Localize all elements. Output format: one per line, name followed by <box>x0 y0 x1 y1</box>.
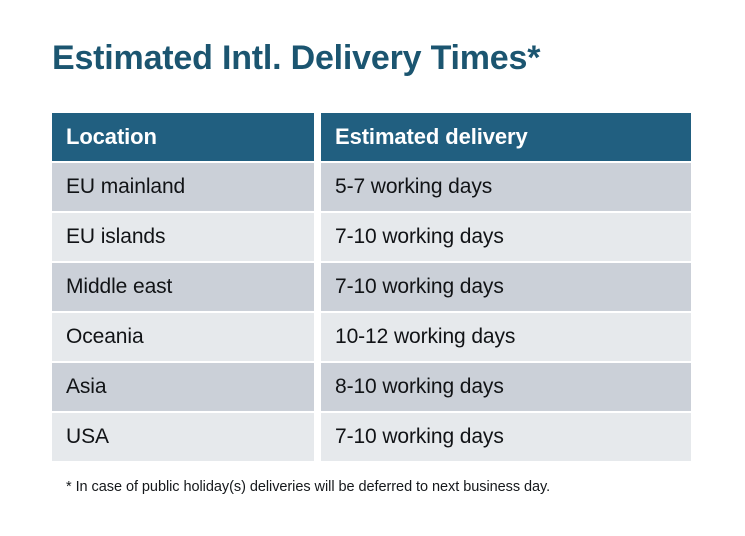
column-divider <box>314 163 321 211</box>
cell-estimated-delivery: 5-7 working days <box>321 163 691 211</box>
cell-location: Middle east <box>52 263 314 311</box>
cell-estimated-delivery: 7-10 working days <box>321 213 691 261</box>
table-row: EU mainland 5-7 working days <box>52 163 691 211</box>
delivery-times-card: Estimated Intl. Delivery Times* Location… <box>0 0 745 536</box>
column-divider <box>314 263 321 311</box>
table-header-row: Location Estimated delivery <box>52 113 691 161</box>
delivery-times-table: Location Estimated delivery EU mainland … <box>52 113 691 461</box>
column-divider <box>314 413 321 461</box>
page-title: Estimated Intl. Delivery Times* <box>52 36 540 80</box>
table-row: EU islands 7-10 working days <box>52 213 691 261</box>
column-divider <box>314 113 321 161</box>
column-divider <box>314 313 321 361</box>
table-row: Middle east 7-10 working days <box>52 263 691 311</box>
cell-location: EU islands <box>52 213 314 261</box>
column-divider <box>314 213 321 261</box>
cell-estimated-delivery: 8-10 working days <box>321 363 691 411</box>
column-header-estimated-delivery: Estimated delivery <box>321 113 691 161</box>
cell-location: USA <box>52 413 314 461</box>
footnote: * In case of public holiday(s) deliverie… <box>66 479 550 495</box>
column-divider <box>314 363 321 411</box>
table-row: USA 7-10 working days <box>52 413 691 461</box>
cell-location: EU mainland <box>52 163 314 211</box>
cell-estimated-delivery: 7-10 working days <box>321 263 691 311</box>
table-row: Asia 8-10 working days <box>52 363 691 411</box>
column-header-location: Location <box>52 113 314 161</box>
cell-location: Oceania <box>52 313 314 361</box>
table-row: Oceania 10-12 working days <box>52 313 691 361</box>
cell-location: Asia <box>52 363 314 411</box>
cell-estimated-delivery: 7-10 working days <box>321 413 691 461</box>
cell-estimated-delivery: 10-12 working days <box>321 313 691 361</box>
